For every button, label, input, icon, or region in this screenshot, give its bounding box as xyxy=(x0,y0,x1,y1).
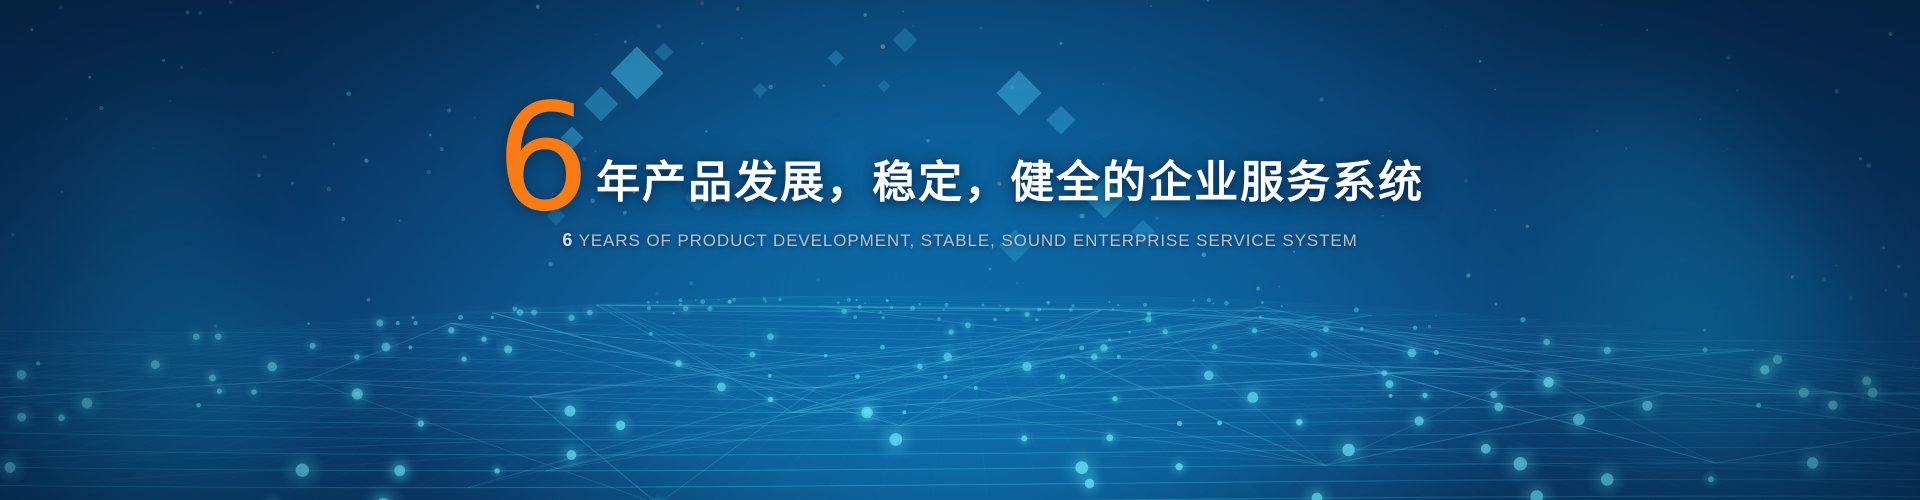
floating-diamond-particles xyxy=(547,28,1155,262)
hero-banner: 6 年产品发展，稳定，健全的企业服务系统 6 YEARS OF PRODUCT … xyxy=(0,0,1920,500)
hud-ring-icon xyxy=(0,0,1920,500)
